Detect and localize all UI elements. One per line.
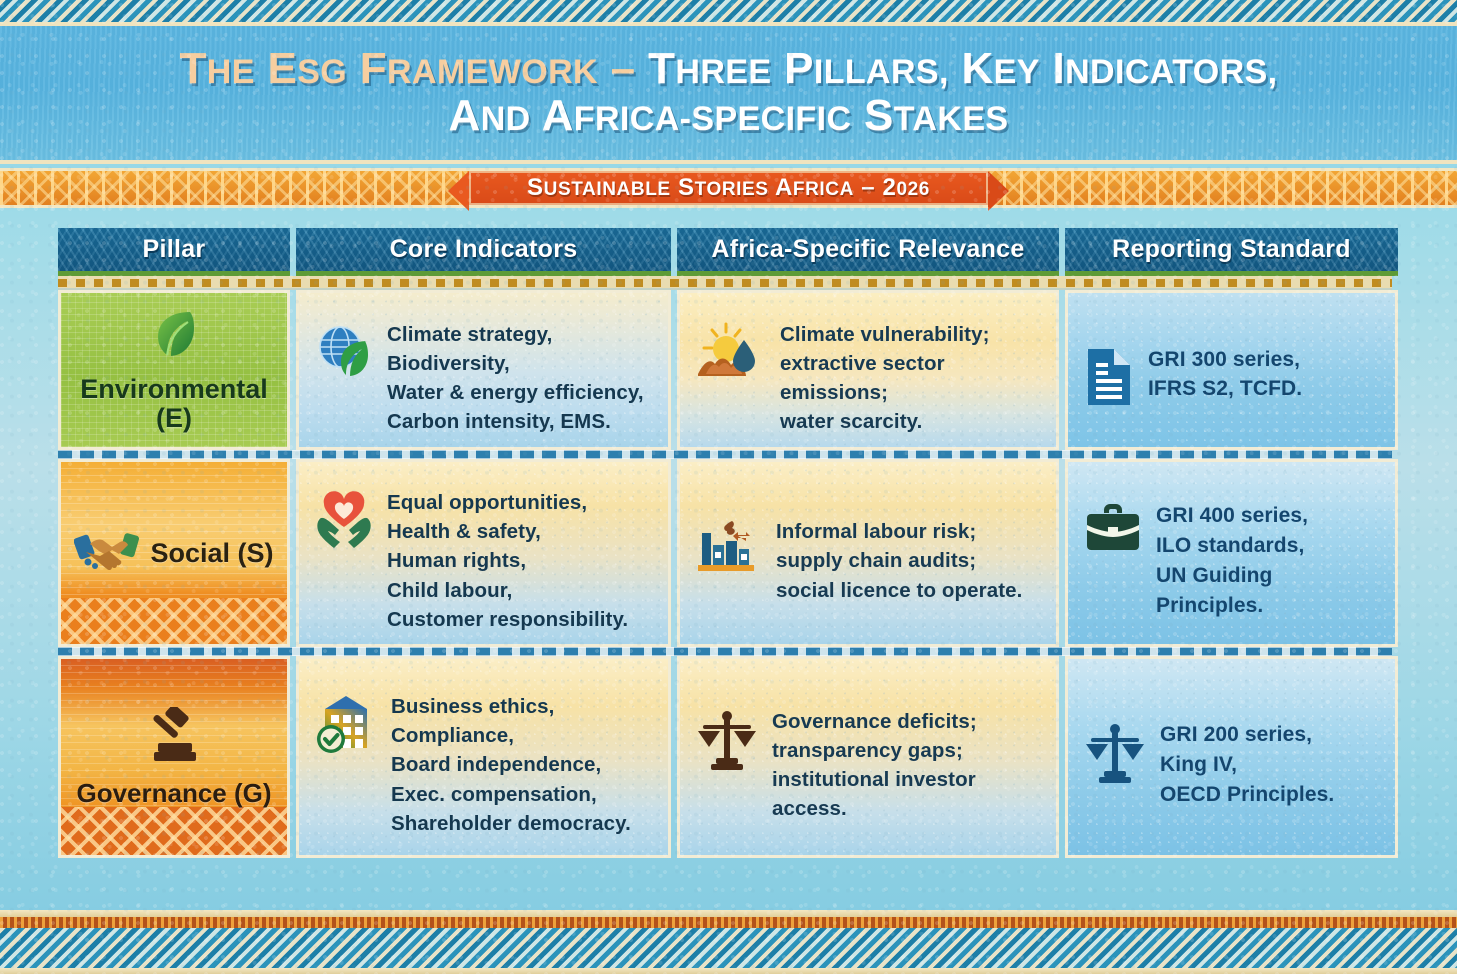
column-header-label: Africa-Specific Relevance [711,235,1024,264]
africa-relevance-cell-governance: Governance deficits; transparency gaps; … [677,656,1059,858]
header-divider-pattern [58,276,1392,290]
core-indicators-text: Business ethics, Compliance, Board indep… [391,692,631,838]
page-title-line-1: THE ESG FRAMEWORK – THREE PILLARS, KEY I… [179,46,1277,93]
heart-in-hands-icon [315,490,373,557]
document-icon [1084,347,1134,412]
core-indicators-text: Equal opportunities, Health & safety, Hu… [387,488,628,634]
core-indicators-cell-social: Equal opportunities, Health & safety, Hu… [296,459,671,647]
row-divider [58,450,1392,459]
reporting-standard-text: GRI 400 series, ILO standards, UN Guidin… [1156,501,1381,620]
column-header-label: Pillar [143,235,206,264]
gavel-icon [146,707,202,770]
reporting-standard-text: GRI 300 series, IFRS S2, TCFD. [1148,345,1302,405]
leaf-icon [152,308,196,365]
reporting-standard-text: GRI 200 series, King IV, OECD Principles… [1160,720,1334,809]
africa-relevance-cell-environmental: Climate vulnerability; extractive sector… [677,290,1059,450]
title-block: THE ESG FRAMEWORK – THREE PILLARS, KEY I… [0,22,1457,164]
globe-leaf-icon [315,322,373,385]
factory-emissions-icon [696,519,762,584]
title-white-part: THREE PILLARS, KEY INDICATORS, [648,44,1277,93]
reporting-standard-cell-environmental: GRI 300 series, IFRS S2, TCFD. [1065,290,1398,450]
column-header-africa-relevance: Africa-Specific Relevance [677,228,1059,276]
column-header-reporting-standard: Reporting Standard [1065,228,1398,276]
column-header-label: Core Indicators [390,235,578,264]
pillar-label: Environmental (E) [71,375,277,432]
infographic-poster: THE ESG FRAMEWORK – THREE PILLARS, KEY I… [0,0,1457,974]
column-header-core-indicators: Core Indicators [296,228,671,276]
sun-water-drought-icon [696,322,766,389]
scales-brown-icon [696,709,758,776]
subtitle-ribbon: SUSTAINABLE STORIES AFRICA – 2026 [0,168,1457,208]
pillar-cell-social: Social (S) [58,459,290,647]
row-divider [58,647,1392,656]
bottom-edge-rule [0,968,1457,974]
table-header-row: Pillar Core Indicators Africa-Specific R… [58,228,1392,276]
core-indicators-cell-governance: Business ethics, Compliance, Board indep… [296,656,671,858]
building-check-icon [315,694,377,761]
pillar-cell-environmental: Environmental (E) [58,290,290,450]
reporting-standard-cell-social: GRI 400 series, ILO standards, UN Guidin… [1065,459,1398,647]
pillar-label: Social (S) [150,539,273,568]
africa-relevance-cell-social: Informal labour risk; supply chain audit… [677,459,1059,647]
africa-relevance-text: Governance deficits; transparency gaps; … [772,707,1042,823]
pillar-label: Governance (G) [76,780,271,808]
subtitle-text: SUSTAINABLE STORIES AFRICA – 2026 [527,174,930,202]
reporting-standard-cell-governance: GRI 200 series, King IV, OECD Principles… [1065,656,1398,858]
africa-relevance-text: Climate vulnerability; extractive sector… [780,320,1042,436]
subtitle-ribbon-plate: SUSTAINABLE STORIES AFRICA – 2026 [469,171,988,205]
scales-blue-icon [1084,722,1146,789]
bottom-cream-rule [0,910,1457,917]
core-indicators-cell-environmental: Climate strategy, Biodiversity, Water & … [296,290,671,450]
column-header-label: Reporting Standard [1112,235,1351,264]
core-indicators-text: Climate strategy, Biodiversity, Water & … [387,320,644,436]
handshake-icon [74,528,140,579]
bottom-orange-rule [0,917,1457,928]
esg-framework-table: Pillar Core Indicators Africa-Specific R… [58,228,1392,878]
table-row: Governance (G) [58,656,1392,858]
table-row: Environmental (E) Climate strategy [58,290,1392,450]
title-gold-part: THE ESG FRAMEWORK – [179,44,648,93]
africa-relevance-text: Informal labour risk; supply chain audit… [776,517,1022,604]
briefcase-icon [1084,503,1142,560]
page-title-line-2: AND AFRICA-SPECIFIC STAKES [449,93,1009,140]
pillar-cell-governance: Governance (G) [58,656,290,858]
table-row: Social (S) Equal opportunities, Health &… [58,459,1392,647]
column-header-pillar: Pillar [58,228,290,276]
